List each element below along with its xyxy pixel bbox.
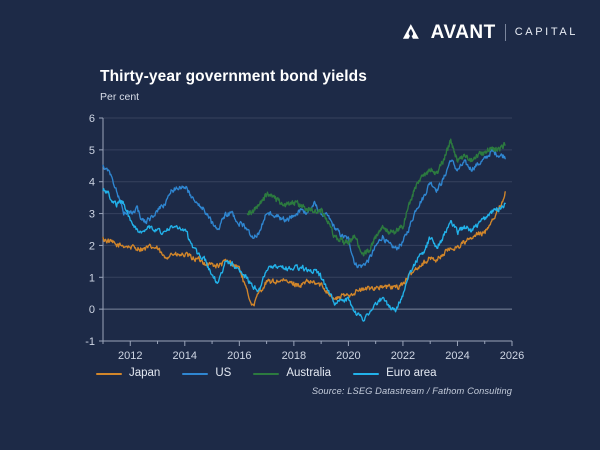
legend-label: Euro area: [386, 368, 437, 380]
y-tick-label: -1: [85, 336, 95, 348]
y-tick-label: 1: [89, 272, 95, 284]
chart-legend: JapanUSAustraliaEuro area: [96, 368, 437, 380]
flame-droplet-icon: [401, 22, 422, 43]
legend-label: Japan: [129, 368, 160, 380]
legend-swatch-icon: [353, 373, 379, 376]
legend-swatch-icon: [182, 373, 208, 376]
chart-page: AVANT CAPITAL Thirty-year government bon…: [0, 0, 600, 450]
series-line-australia: [248, 139, 506, 256]
legend-swatch-icon: [253, 373, 279, 376]
axis-unit-label: Per cent: [100, 91, 139, 103]
brand-name: AVANT: [431, 23, 496, 42]
x-tick-label: 2012: [118, 350, 142, 362]
x-tick-label: 2022: [391, 350, 415, 362]
legend-swatch-icon: [96, 373, 122, 376]
x-tick-label: 2024: [445, 350, 469, 362]
brand-sub: CAPITAL: [515, 27, 578, 38]
y-tick-label: 3: [89, 209, 95, 221]
legend-label: Australia: [286, 368, 331, 380]
series-line-japan: [103, 192, 505, 306]
y-tick-label: 6: [89, 113, 95, 125]
y-tick-label: 2: [89, 240, 95, 252]
y-tick-label: 5: [89, 145, 95, 157]
x-tick-label: 2018: [282, 350, 306, 362]
logo-divider: [505, 24, 506, 41]
legend-item[interactable]: US: [182, 368, 231, 380]
x-tick-label: 2016: [227, 350, 251, 362]
y-tick-label: 0: [89, 304, 95, 316]
legend-item[interactable]: Euro area: [353, 368, 437, 380]
x-tick-label: 2014: [173, 350, 197, 362]
legend-label: US: [215, 368, 231, 380]
page-title: Thirty-year government bond yields: [100, 68, 367, 86]
y-tick-label: 4: [89, 177, 95, 189]
series-line-euro-area: [103, 189, 505, 321]
series-line-us: [103, 149, 505, 267]
source-note: Source: LSEG Datastream / Fathom Consult…: [312, 386, 512, 396]
legend-item[interactable]: Australia: [253, 368, 331, 380]
x-tick-label: 2026: [500, 350, 524, 362]
legend-item[interactable]: Japan: [96, 368, 160, 380]
brand-logo: AVANT CAPITAL: [401, 19, 578, 45]
x-tick-label: 2020: [336, 350, 360, 362]
